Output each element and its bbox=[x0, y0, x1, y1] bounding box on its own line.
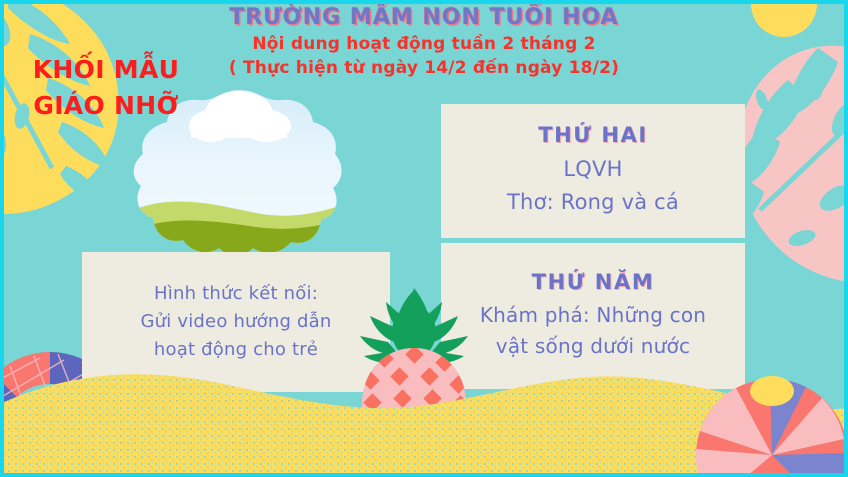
card-thursday-line-2: vật sống dưới nước bbox=[496, 331, 690, 362]
card-thursday-line-1: Khám phá: Những con bbox=[480, 300, 706, 331]
card-thursday[interactable]: THỨ NĂM Khám phá: Những con vật sống dướ… bbox=[441, 243, 745, 389]
subtitle-week: Nội dung hoạt động tuần 2 tháng 2 bbox=[0, 32, 848, 57]
card-connection-line-2: Gửi video hướng dẫn bbox=[140, 308, 331, 336]
card-monday[interactable]: THỨ HAI LQVH Thơ: Rong và cá bbox=[441, 104, 745, 238]
card-connection[interactable]: Hình thức kết nối: Gửi video hướng dẫn h… bbox=[82, 252, 390, 392]
card-monday-line-1: LQVH bbox=[563, 153, 622, 186]
card-connection-line-1: Hình thức kết nối: bbox=[154, 280, 318, 308]
card-monday-line-2: Thơ: Rong và cá bbox=[507, 186, 679, 219]
poster-header: TRƯỜNG MẦM NON TUỔI HOA Nội dung hoạt độ… bbox=[0, 4, 848, 81]
card-thursday-day: THỨ NĂM bbox=[532, 270, 655, 294]
page-title: TRƯỜNG MẦM NON TUỔI HOA bbox=[0, 4, 848, 32]
poster-canvas: TRƯỜNG MẦM NON TUỔI HOA Nội dung hoạt độ… bbox=[0, 0, 848, 477]
subtitle-dates: ( Thực hiện từ ngày 14/2 đến ngày 18/2) bbox=[0, 56, 848, 81]
card-connection-line-3: hoạt động cho trẻ bbox=[154, 336, 318, 364]
badge-line-2: GIÁO NHỠ bbox=[0, 88, 212, 124]
card-monday-day: THỨ HAI bbox=[538, 123, 648, 147]
